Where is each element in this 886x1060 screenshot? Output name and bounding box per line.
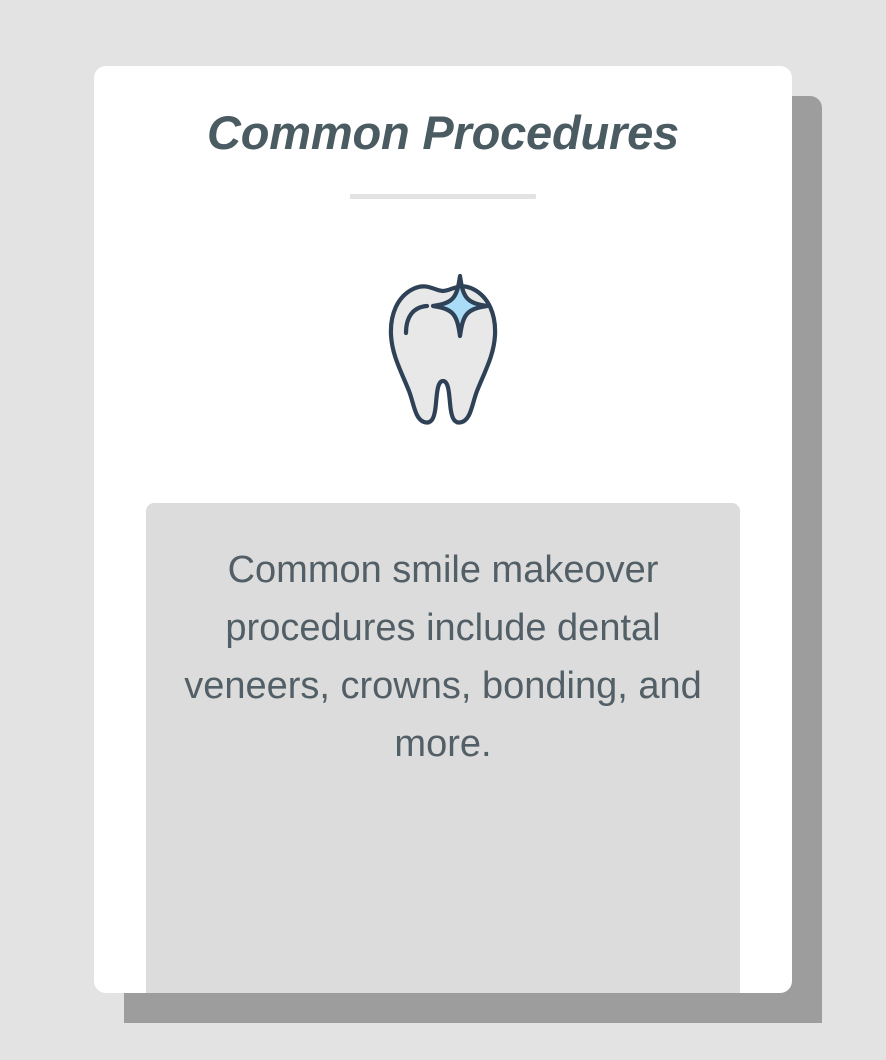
sparkling-tooth-icon bbox=[94, 261, 792, 436]
title-divider bbox=[350, 194, 536, 199]
body-text-panel: Common smile makeover procedures include… bbox=[146, 503, 740, 993]
slide-canvas: Common Procedures Common smile makeover … bbox=[0, 0, 886, 1060]
body-text: Common smile makeover procedures include… bbox=[180, 541, 706, 773]
content-card: Common Procedures Common smile makeover … bbox=[94, 66, 792, 993]
page-title: Common Procedures bbox=[94, 104, 792, 162]
